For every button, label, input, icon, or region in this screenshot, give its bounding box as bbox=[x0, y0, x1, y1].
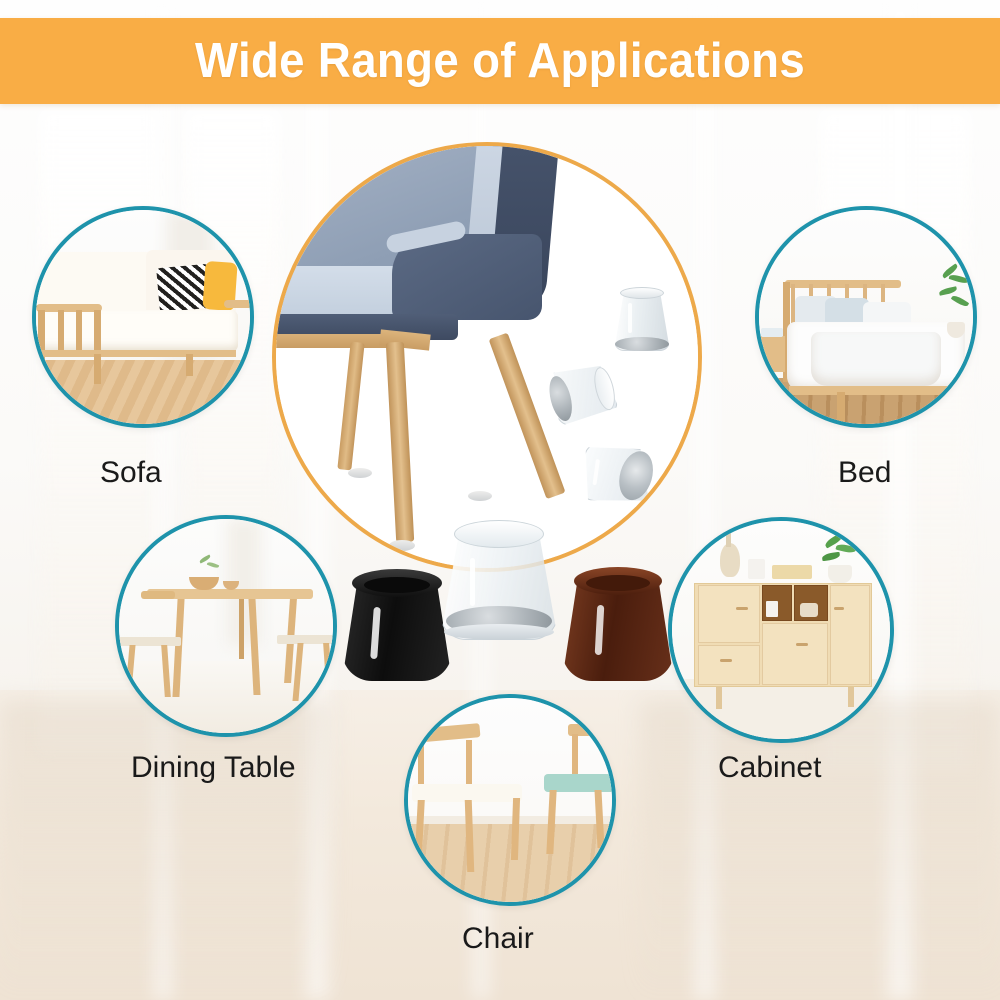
silicone-cap-sample-upright bbox=[614, 291, 670, 351]
chair-scene bbox=[408, 698, 612, 902]
leg-cap-on-foot bbox=[468, 491, 492, 501]
center-feature-scene bbox=[276, 146, 698, 568]
caption-dining-table: Dining Table bbox=[131, 751, 296, 785]
sofa-scene bbox=[36, 210, 250, 424]
application-bubble-sofa[interactable] bbox=[32, 206, 254, 428]
header-banner: Wide Range of Applications bbox=[0, 18, 1000, 104]
application-bubble-cabinet[interactable] bbox=[668, 517, 894, 743]
leg-cap-on-foot bbox=[348, 468, 372, 478]
product-sample-brown bbox=[562, 565, 674, 683]
product-infographic: Wide Range of Applications S bbox=[0, 0, 1000, 1000]
caption-cabinet: Cabinet bbox=[718, 751, 821, 785]
application-bubble-bed[interactable] bbox=[755, 206, 977, 428]
silicone-cap-sample-felt-up bbox=[578, 441, 655, 508]
application-bubble-chair[interactable] bbox=[404, 694, 616, 906]
center-feature-bubble[interactable] bbox=[272, 142, 702, 572]
product-sample-transparent bbox=[440, 520, 558, 645]
caption-sofa: Sofa bbox=[100, 456, 162, 490]
cabinet-scene bbox=[672, 521, 890, 739]
product-sample-black bbox=[342, 567, 452, 682]
bed-scene bbox=[759, 210, 973, 424]
caption-chair: Chair bbox=[462, 922, 534, 956]
leg-cap-on-foot bbox=[389, 540, 415, 551]
page-title: Wide Range of Applications bbox=[195, 33, 805, 89]
caption-bed: Bed bbox=[838, 456, 891, 490]
